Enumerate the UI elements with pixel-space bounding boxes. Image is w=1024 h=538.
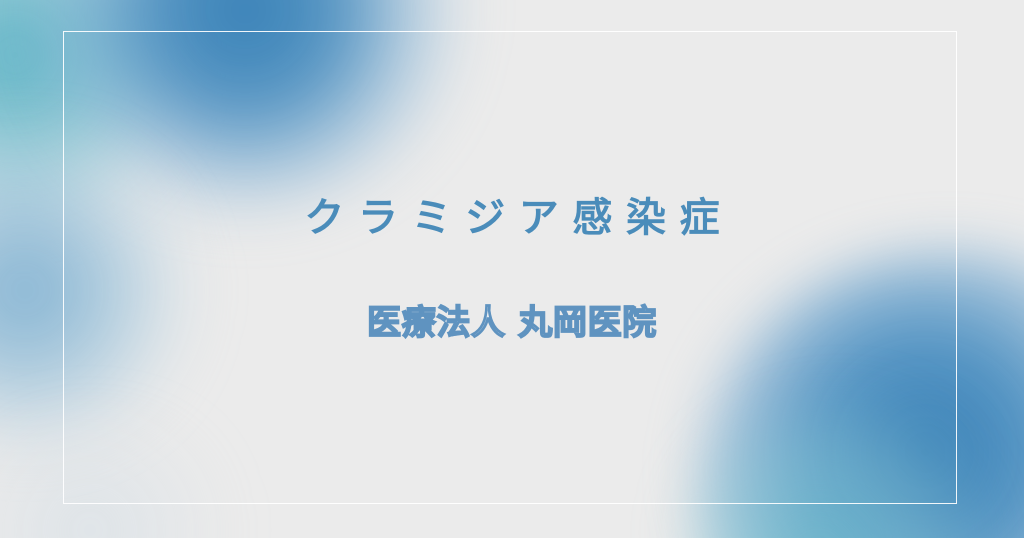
title-content-block: クラミジア感染症 医療法人 丸岡医院 xyxy=(0,0,1024,538)
title-slide: クラミジア感染症 医療法人 丸岡医院 xyxy=(0,0,1024,538)
slide-title: クラミジア感染症 xyxy=(291,198,733,238)
slide-subtitle-organization: 医療法人 丸岡医院 xyxy=(367,306,657,340)
